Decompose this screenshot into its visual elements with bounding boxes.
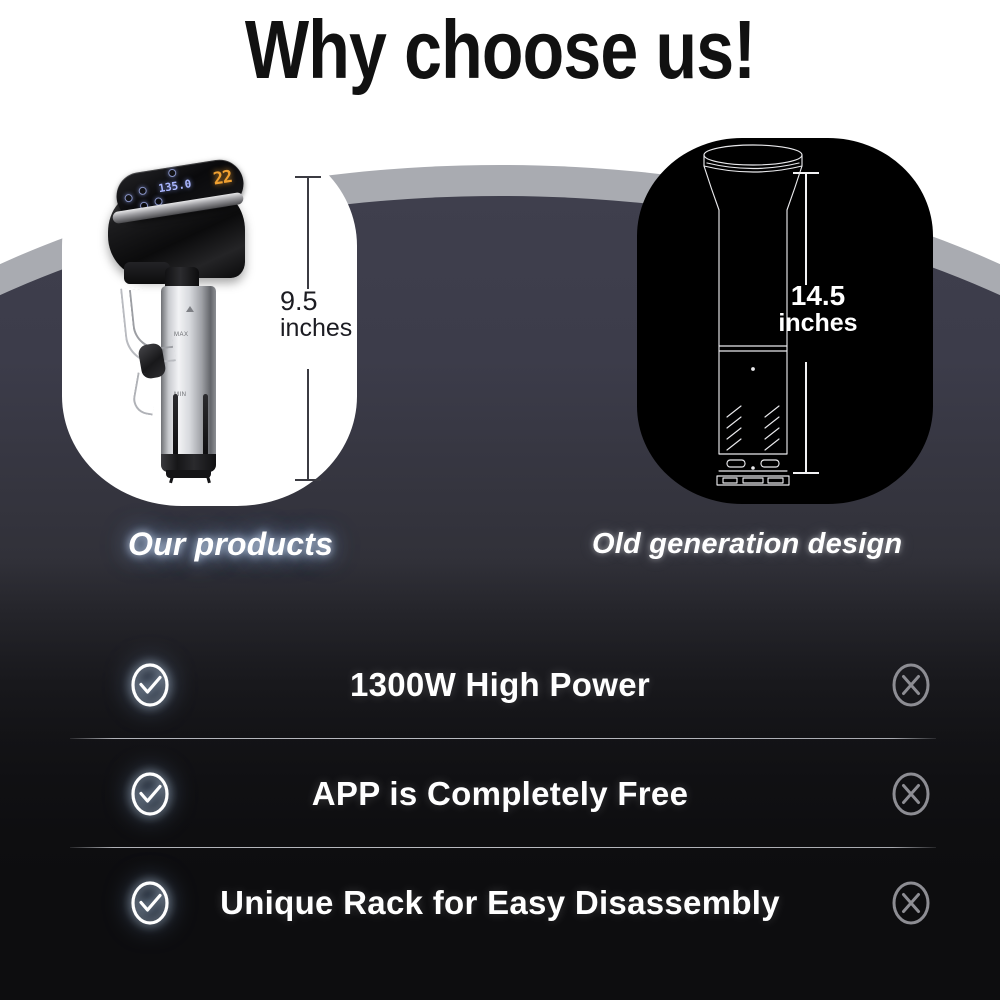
dimension-label: 9.5 inches	[280, 288, 400, 341]
feature-row: Unique Rack for Easy Disassembly	[0, 848, 1000, 957]
page-title: Why choose us!	[90, 2, 910, 98]
dimension-line-lower	[307, 369, 309, 480]
dimension-unit: inches	[753, 311, 883, 337]
dimension-line-upper	[307, 177, 309, 289]
old-generation-caption: Old generation design	[592, 528, 902, 561]
product-intake-slot	[173, 394, 178, 456]
product-max-mark: MAX	[174, 332, 189, 338]
product-clamp-tail	[131, 372, 160, 415]
cross-icon	[886, 660, 936, 710]
feature-row: APP is Completely Free	[0, 739, 1000, 848]
setpoint-readout: 135.0	[158, 178, 192, 194]
feature-label: APP is Completely Free	[0, 775, 1000, 813]
our-products-caption: Our products	[128, 526, 333, 563]
feature-label: 1300W High Power	[0, 666, 1000, 704]
feature-label: Unique Rack for Easy Disassembly	[0, 884, 1000, 922]
product-foot-leg	[206, 476, 211, 484]
dimension-value: 9.5	[280, 288, 400, 316]
infographic-canvas: Why choose us! 22 135.0 MAX MIN	[0, 0, 1000, 1000]
dimension-value: 14.5	[753, 282, 883, 311]
product-intake-slot	[203, 394, 208, 456]
dimension-cap-bottom	[793, 472, 819, 474]
dimension-line-upper	[805, 173, 807, 285]
dimension-unit: inches	[280, 316, 400, 342]
temperature-icon	[168, 168, 177, 177]
dimension-cap-bottom	[295, 479, 321, 481]
feature-comparison-list: 1300W High Power APP is Completely Free	[0, 630, 1000, 957]
cross-icon	[886, 769, 936, 819]
power-icon	[124, 194, 133, 203]
feature-row: 1300W High Power	[0, 630, 1000, 739]
timer-icon	[138, 186, 147, 195]
product-foot-leg	[169, 476, 174, 484]
cross-icon	[886, 878, 936, 928]
product-neck-upper	[124, 262, 170, 284]
temperature-readout: 22	[212, 169, 233, 189]
dimension-label: 14.5 inches	[753, 282, 883, 336]
product-level-arrow-icon	[186, 306, 194, 312]
dimension-line-lower	[805, 362, 807, 473]
